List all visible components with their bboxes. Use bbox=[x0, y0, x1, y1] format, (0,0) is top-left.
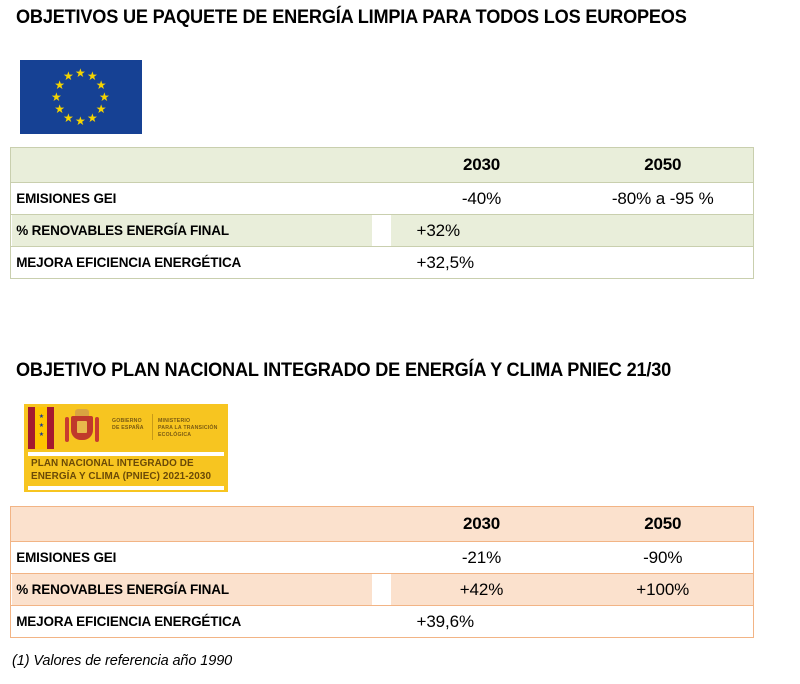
eu-stars-circle bbox=[20, 60, 142, 134]
table-row: % RENOVABLES ENERGÍA FINAL +32% bbox=[11, 215, 754, 247]
header-cell-2050: 2050 bbox=[573, 148, 754, 183]
table-objetivos-ue: 2030 2050 EMISIONES GEI -40% -80% a -95 … bbox=[10, 147, 754, 279]
table-header-row: 2030 2050 bbox=[11, 507, 754, 542]
cell-eficiencia-2030: +39,6% bbox=[391, 606, 573, 638]
cell-emisiones-gei-2050: -80% a -95 % bbox=[573, 183, 754, 215]
cell-renovables-2050: +100% bbox=[573, 574, 754, 606]
pniec-logo-icon: ★★★ GOBIERNO DE ESPAÑA MINISTERIO PARA L… bbox=[24, 404, 228, 492]
header-cell-blank bbox=[11, 148, 391, 183]
row-label-emisiones-gei: EMISIONES GEI bbox=[11, 542, 372, 574]
table-header-row: 2030 2050 bbox=[11, 148, 754, 183]
european-union-flag-icon bbox=[20, 60, 142, 134]
pniec-programme-title: PLAN NACIONAL INTEGRADO DE ENERGÍA Y CLI… bbox=[31, 458, 216, 483]
ministerio-label: MINISTERIO PARA LA TRANSICIÓN ECOLÓGICA bbox=[158, 418, 228, 439]
cell-eficiencia-2050 bbox=[573, 247, 754, 279]
cell-emisiones-gei-2050: -90% bbox=[573, 542, 754, 574]
cell-renovables-2030: +32% bbox=[391, 215, 573, 247]
page-title-pniec: OBJETIVO PLAN NACIONAL INTEGRADO DE ENER… bbox=[16, 359, 671, 382]
spain-coat-of-arms-icon bbox=[62, 409, 102, 447]
logo-white-band bbox=[28, 452, 224, 456]
cell-renovables-2050 bbox=[573, 215, 754, 247]
row-label-renovables-energia-final: % RENOVABLES ENERGÍA FINAL bbox=[11, 574, 372, 606]
header-cell-2050: 2050 bbox=[573, 507, 754, 542]
row-label-emisiones-gei: EMISIONES GEI bbox=[11, 183, 372, 215]
table-row: MEJORA EFICIENCIA ENERGÉTICA +32,5% bbox=[11, 247, 754, 279]
header-cell-blank bbox=[11, 507, 391, 542]
table-objetivos-pniec: 2030 2050 EMISIONES GEI -21% -90% % RENO… bbox=[10, 506, 754, 638]
header-cell-2030: 2030 bbox=[391, 148, 573, 183]
cell-eficiencia-2050 bbox=[573, 606, 754, 638]
cell-emisiones-gei-2030: -21% bbox=[391, 542, 573, 574]
page-title-ue: OBJETIVOS UE PAQUETE DE ENERGÍA LIMPIA P… bbox=[16, 6, 687, 29]
logo-bottom-band bbox=[28, 486, 224, 490]
cell-renovables-2030: +42% bbox=[391, 574, 573, 606]
gobierno-de-espana-bar: ★★★ GOBIERNO DE ESPAÑA MINISTERIO PARA L… bbox=[24, 404, 228, 452]
row-label-renovables-energia-final: % RENOVABLES ENERGÍA FINAL bbox=[11, 215, 372, 247]
header-cell-2030: 2030 bbox=[391, 507, 573, 542]
cell-eficiencia-2030: +32,5% bbox=[391, 247, 573, 279]
table-row: EMISIONES GEI -21% -90% bbox=[11, 542, 754, 574]
eu-ministars-icon: ★★★ bbox=[38, 413, 45, 440]
gobierno-label: GOBIERNO DE ESPAÑA bbox=[112, 418, 144, 432]
table-row: % RENOVABLES ENERGÍA FINAL +42% +100% bbox=[11, 574, 754, 606]
logo-divider bbox=[152, 414, 153, 440]
spain-flag-strip-icon: ★★★ bbox=[28, 407, 54, 449]
table-row: EMISIONES GEI -40% -80% a -95 % bbox=[11, 183, 754, 215]
table-row: MEJORA EFICIENCIA ENERGÉTICA +39,6% bbox=[11, 606, 754, 638]
row-label-mejora-eficiencia-energetica: MEJORA EFICIENCIA ENERGÉTICA bbox=[11, 606, 372, 638]
row-label-mejora-eficiencia-energetica: MEJORA EFICIENCIA ENERGÉTICA bbox=[11, 247, 372, 279]
cell-emisiones-gei-2030: -40% bbox=[391, 183, 573, 215]
footnote-reference-year: (1) Valores de referencia año 1990 bbox=[12, 653, 232, 669]
